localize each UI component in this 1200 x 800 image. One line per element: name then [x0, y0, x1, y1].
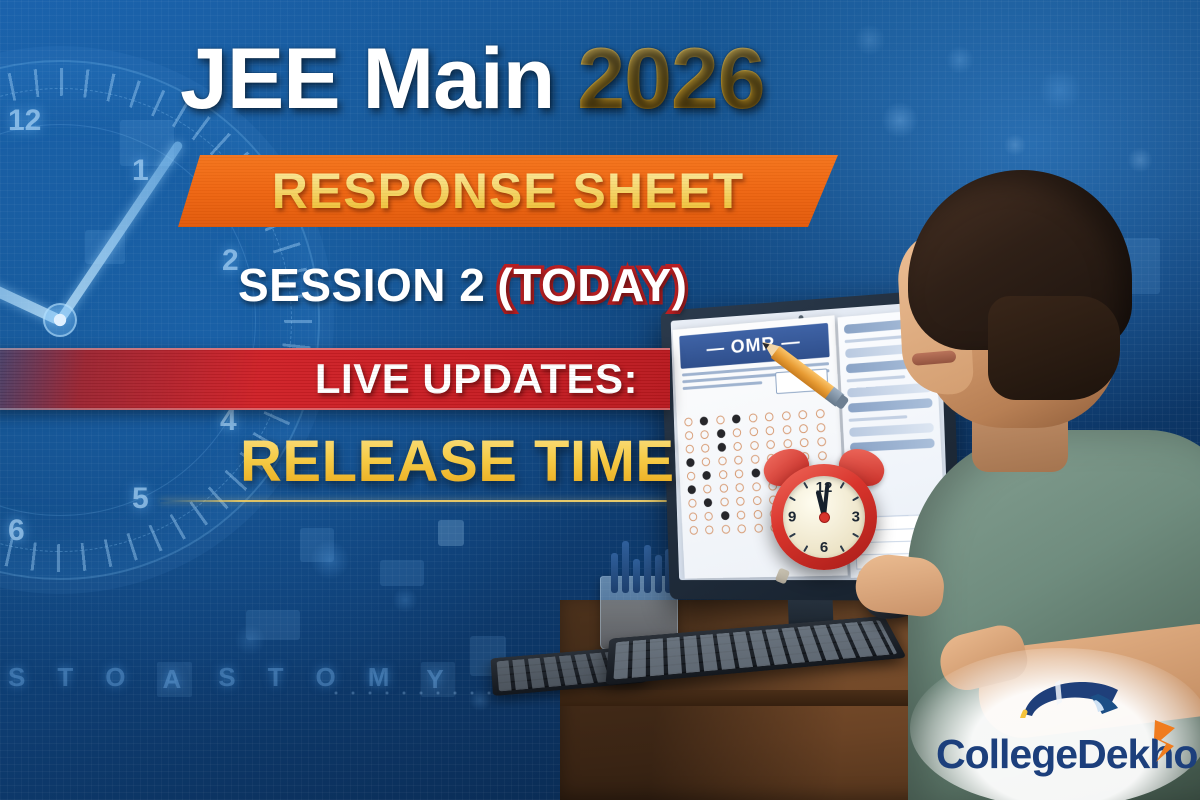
logo-text: CollegeDekho [936, 731, 1184, 778]
response-sheet-label: RESPONSE SHEET [178, 155, 838, 227]
alarm-clock-face: 12 3 6 9 [783, 476, 865, 558]
omr-bubble [751, 455, 760, 464]
bg-clock-number-12: 12 [8, 104, 41, 138]
omr-bubble [752, 482, 761, 491]
release-time-label: RELEASE TIME [240, 428, 675, 495]
omr-bubble [754, 524, 763, 533]
omr-bubble [720, 497, 729, 506]
live-updates-ribbon: LIVE UPDATES: [0, 348, 670, 410]
omr-bubble [736, 483, 745, 492]
omr-sheet-header: — OMR — [679, 323, 830, 369]
page-title: JEE Main 2026 [180, 36, 765, 122]
omr-bubble [685, 445, 694, 454]
omr-bubble [765, 412, 774, 421]
ghost-letter: O [315, 662, 341, 697]
omr-bubble-filled [700, 416, 709, 425]
student-hair-side [988, 296, 1120, 400]
omr-bubble [705, 525, 714, 534]
omr-bubble [719, 470, 728, 479]
omr-bubble [749, 427, 758, 436]
collegedekho-logo[interactable]: CollegeDekho [936, 670, 1184, 786]
omr-bubble [783, 439, 792, 448]
omr-bubble [718, 456, 727, 465]
ghost-letter: T [268, 662, 290, 697]
omr-bubble [817, 437, 826, 447]
omr-bubble [767, 440, 776, 449]
alarm-center-pin [819, 512, 830, 523]
omr-bubble [719, 484, 728, 493]
today-badge: (TODAY) [497, 259, 687, 311]
live-updates-label: LIVE UPDATES: [315, 350, 638, 408]
omr-bubble [749, 413, 758, 422]
omr-bubble [766, 426, 775, 435]
omr-bubble [716, 415, 725, 424]
omr-bubble [816, 423, 825, 433]
title-white-part: JEE Main [180, 31, 577, 127]
omr-bubble [687, 472, 696, 481]
omr-bubble [688, 499, 697, 508]
title-year: 2026 [577, 31, 764, 127]
bg-clock-number-5: 5 [132, 482, 149, 516]
omr-bubble [702, 457, 711, 466]
omr-bubble [701, 430, 710, 439]
ghost-letter: T [57, 662, 79, 697]
logo-swoosh-icon [1152, 716, 1178, 766]
omr-bubble [689, 526, 698, 535]
bg-clock-number-1: 1 [132, 154, 149, 188]
omr-bubble [689, 512, 698, 521]
alarm-number-6: 6 [820, 539, 828, 556]
omr-bubble-filled [686, 458, 695, 467]
omr-bubble [799, 424, 808, 434]
omr-bubble [701, 444, 710, 453]
omr-bubble [800, 438, 809, 447]
bg-clock-number-2: 2 [222, 244, 239, 278]
omr-bubble-filled [687, 485, 696, 494]
omr-bubble [705, 512, 714, 521]
omr-bubble [736, 497, 745, 506]
session-line: SESSION 2(TODAY) [238, 258, 687, 312]
ghost-letter: S [8, 662, 31, 697]
alarm-number-3: 3 [852, 509, 860, 526]
omr-bubble [753, 510, 762, 519]
response-sheet-ribbon: RESPONSE SHEET [178, 155, 838, 227]
alarm-number-9: 9 [788, 509, 796, 526]
omr-bubble [733, 428, 742, 437]
omr-bubble [782, 411, 791, 420]
omr-bubble-filled [717, 429, 726, 438]
omr-bubble [734, 442, 743, 451]
omr-bubble-filled [721, 511, 730, 520]
omr-bubble [703, 484, 712, 493]
ghost-letter: A [157, 662, 192, 697]
omr-bubble [722, 525, 731, 534]
omr-bubble [753, 496, 762, 505]
omr-bubble [684, 417, 693, 426]
promo-banner: 12 1 2 4 5 6 7 S T O A S T O M Y [0, 0, 1200, 800]
omr-bubble [685, 431, 694, 440]
omr-bubble-filled [704, 498, 713, 507]
omr-bubble-filled [751, 468, 760, 477]
background-clock-graphic: 12 1 2 4 5 6 7 [0, 60, 320, 580]
omr-bubble [799, 410, 808, 420]
omr-bubble [750, 441, 759, 450]
omr-bubble [735, 469, 744, 478]
ghost-letter: S [218, 662, 241, 697]
omr-bubble-filled [717, 443, 726, 452]
omr-bubble [816, 409, 825, 419]
omr-bubble [738, 524, 747, 533]
background-ghost-letters: S T O A S T O M Y [8, 662, 318, 697]
omr-bubble-filled [703, 471, 712, 480]
omr-bubble [782, 425, 791, 434]
omr-bubble [737, 510, 746, 519]
session-label: SESSION 2 [238, 259, 485, 311]
omr-bubble-filled [732, 414, 741, 423]
bg-clock-number-6: 6 [8, 514, 25, 548]
graduation-cap-icon [1014, 672, 1130, 718]
ghost-letter: O [105, 662, 131, 697]
omr-bubble [734, 455, 743, 464]
ghost-letter: M [368, 662, 396, 697]
ghost-letter: Y [421, 662, 454, 697]
